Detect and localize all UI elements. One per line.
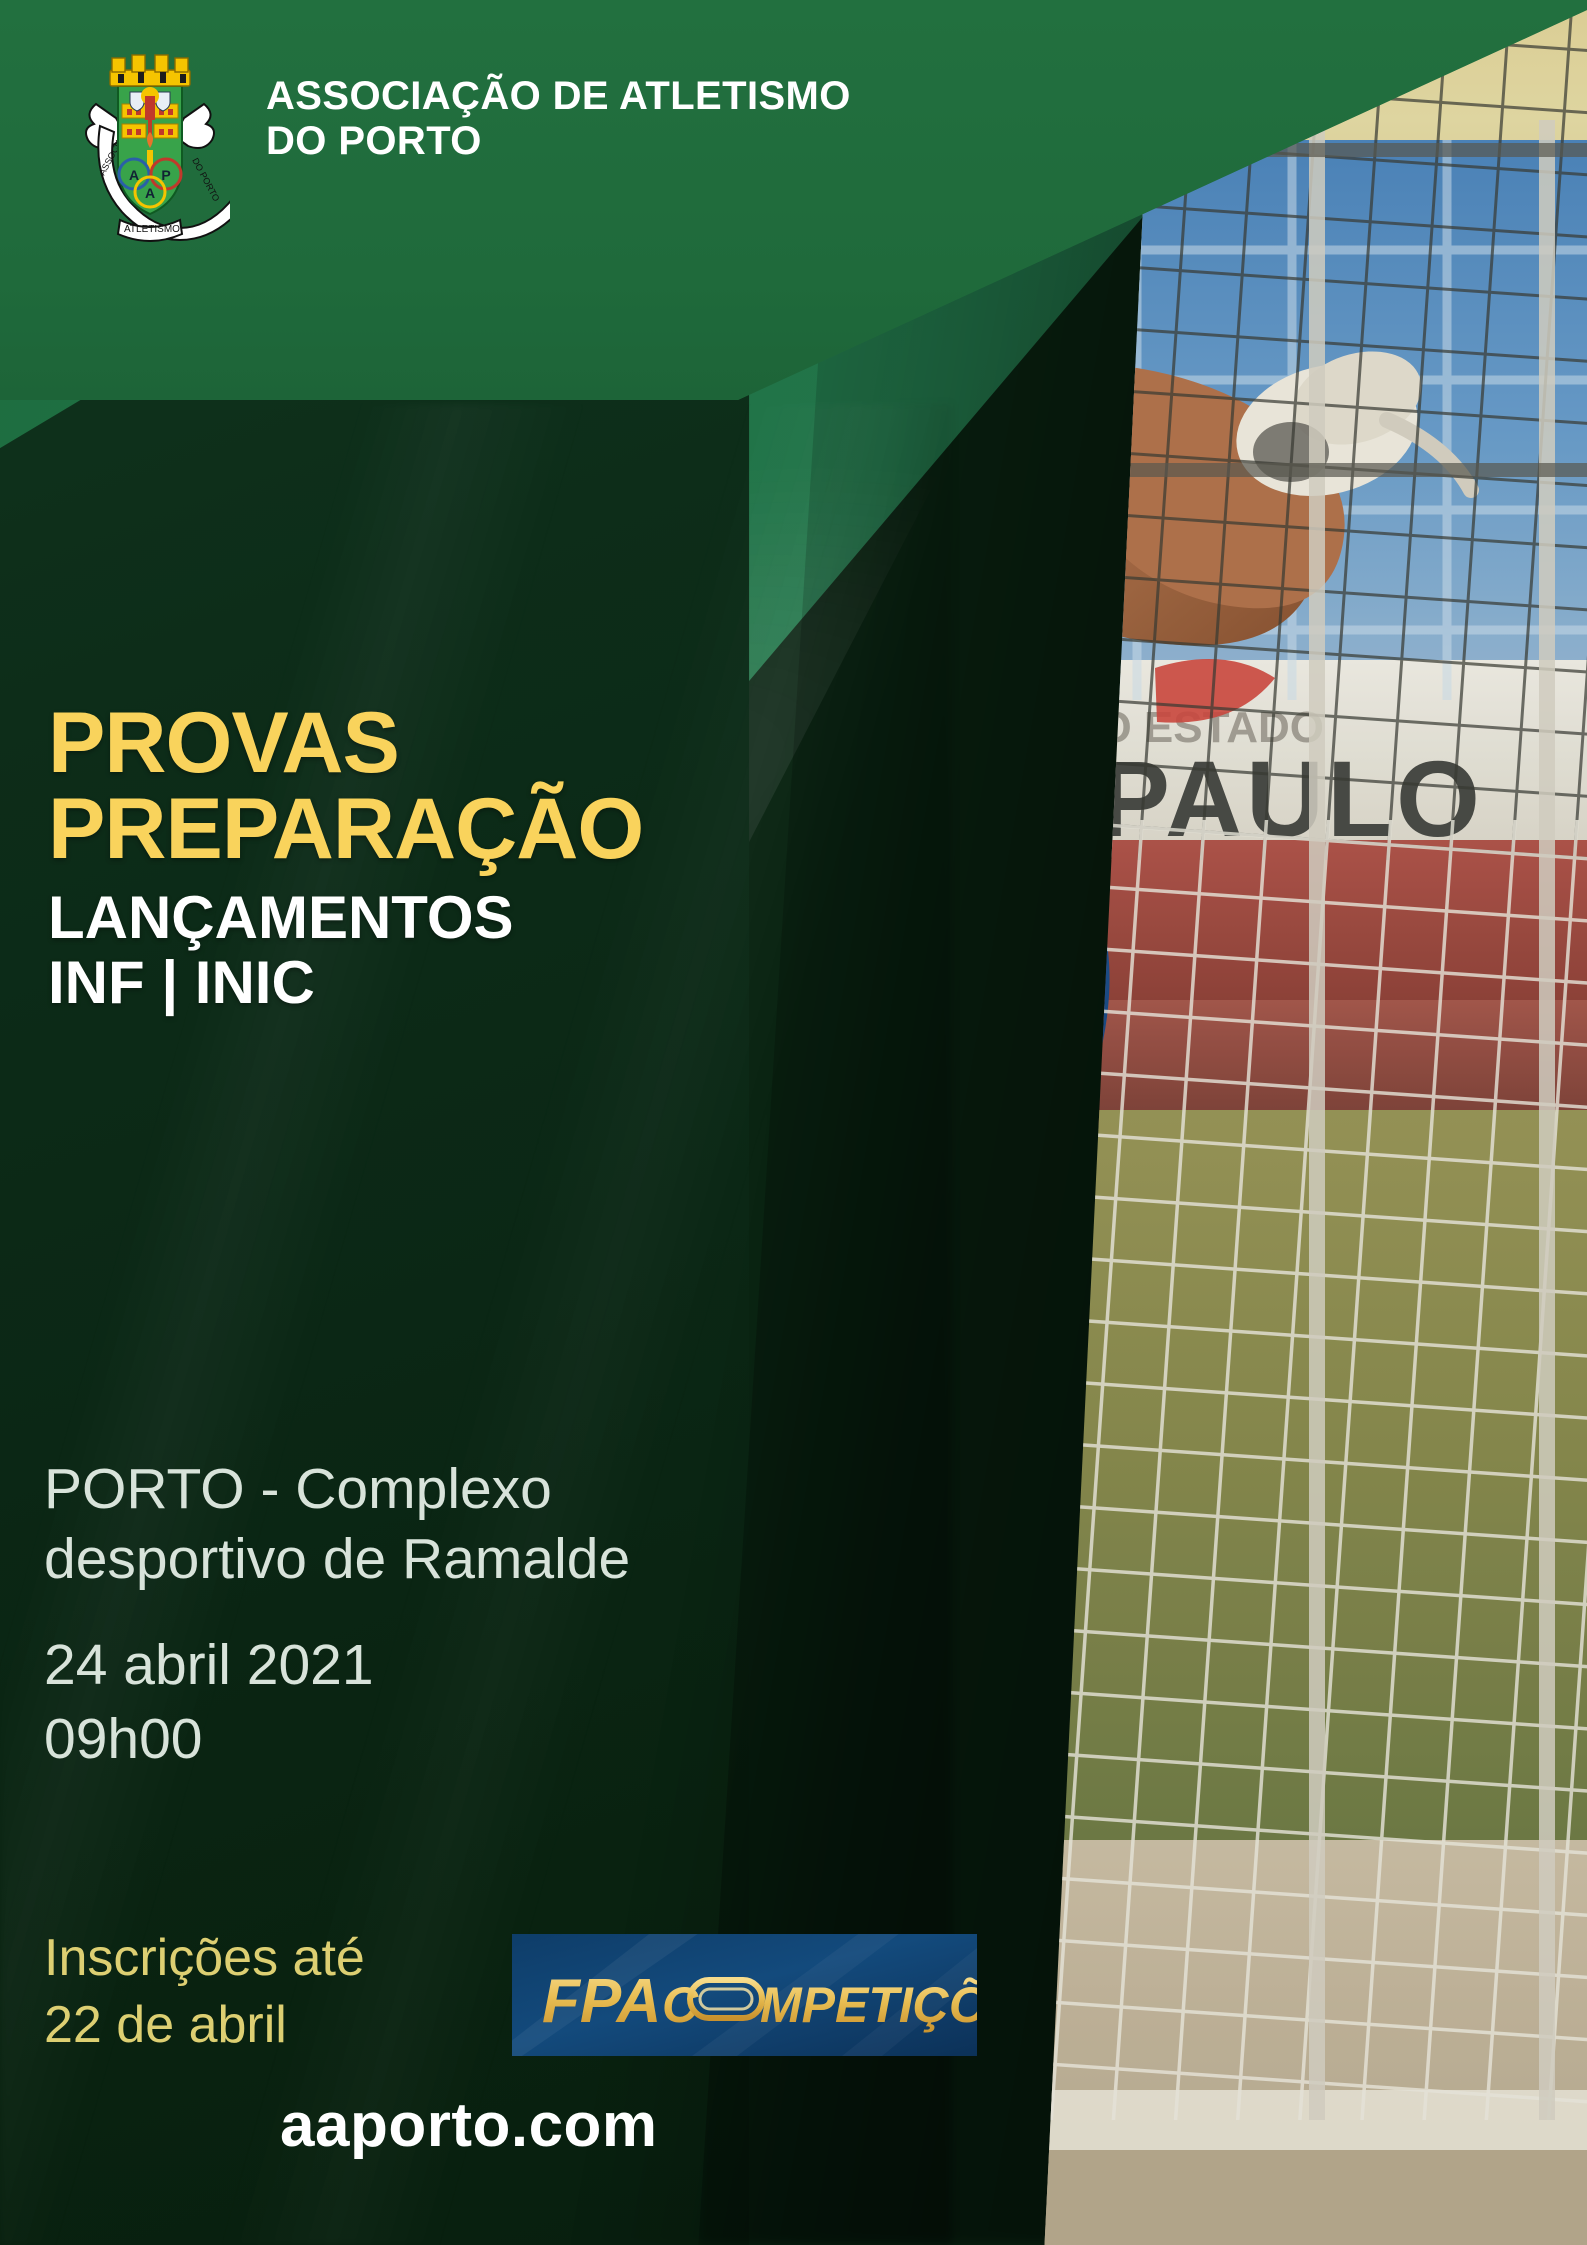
porto-coat-of-arms-icon: ASSOCIAÇÃO DE DO PORTO ATLETISMO <box>70 52 230 242</box>
title-block: PROVAS PREPARAÇÃO LANÇAMENTOS INF | INIC <box>48 700 643 1016</box>
organization-name: ASSOCIAÇÃO DE ATLETISMO DO PORTO <box>266 52 851 164</box>
crest-motto-right: DO PORTO <box>190 156 221 203</box>
fpa-mark-text: FPA <box>542 1967 661 2036</box>
fpa-competicoes-logo[interactable]: FPA C MPETIÇÕES <box>512 1934 977 2056</box>
fpa-word-post: MPETIÇÕES <box>760 1976 977 2033</box>
event-details: PORTO - Complexo desportivo de Ramalde 2… <box>44 1455 724 1776</box>
poster-root: VERNO DO ESTADO AO PAULO <box>0 0 1587 2245</box>
crest-letter-p: P <box>161 167 170 183</box>
fpa-logo-svg: FPA C MPETIÇÕES <box>512 1934 977 2056</box>
website-url[interactable]: aaporto.com <box>280 2090 658 2161</box>
header: ASSOCIAÇÃO DE DO PORTO ATLETISMO <box>70 52 851 242</box>
page-title: PROVAS PREPARAÇÃO <box>48 700 643 872</box>
crest-letter-a1: A <box>129 167 139 183</box>
page-subtitle: LANÇAMENTOS INF | INIC <box>48 886 643 1016</box>
event-venue: PORTO - Complexo desportivo de Ramalde <box>44 1455 724 1594</box>
crest-letter-a2: A <box>145 185 155 201</box>
crest-motto-bottom: ATLETISMO <box>124 224 180 235</box>
crest-svg: ASSOCIAÇÃO DE DO PORTO ATLETISMO <box>70 52 230 242</box>
registration-deadline: Inscrições até 22 de abril <box>44 1925 365 2058</box>
event-date: 24 abril 2021 <box>44 1628 724 1702</box>
event-time: 09h00 <box>44 1702 724 1776</box>
